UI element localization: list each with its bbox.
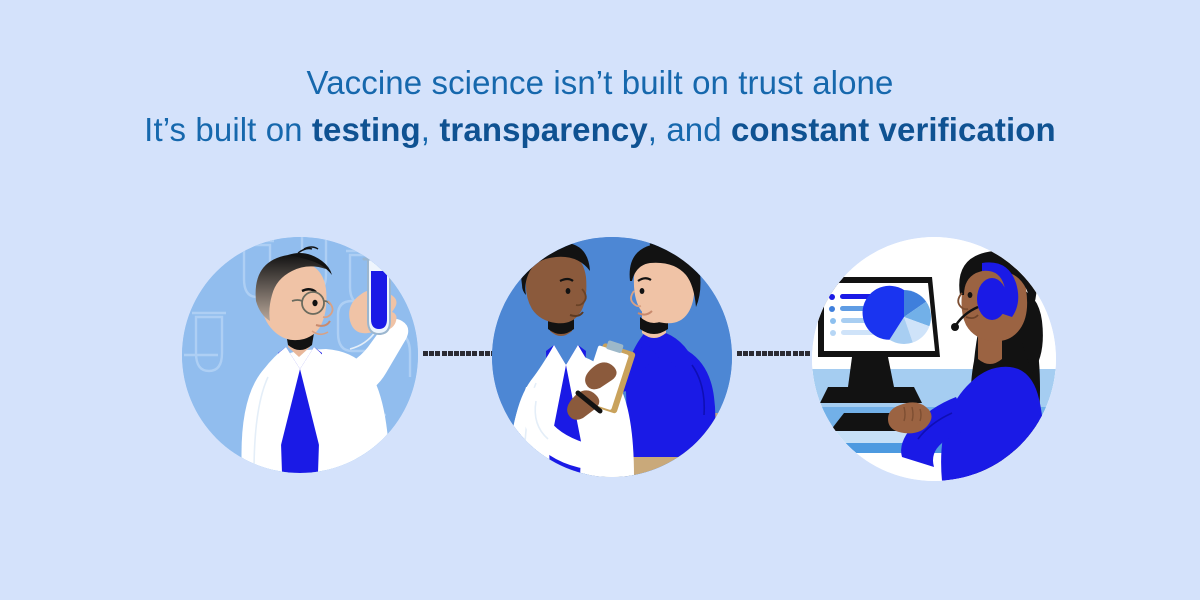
monitor-stand <box>848 357 894 387</box>
connector-dot <box>780 351 785 356</box>
connector-dot <box>485 351 490 356</box>
microphone-icon <box>951 323 959 331</box>
test-tube-icon <box>364 259 394 334</box>
connector-dot <box>805 351 810 356</box>
connector-dot <box>466 351 471 356</box>
headline-line-2-text-a: It’s built on <box>144 111 312 148</box>
connector-dot <box>429 351 434 356</box>
headline-line-2: It’s built on testing, transparency, and… <box>0 109 1200 152</box>
scene-data-monitoring <box>812 237 1056 481</box>
headline-keyword-constant-verification: constant verification <box>731 111 1056 148</box>
connector-dot <box>442 351 447 356</box>
connector-dot <box>743 351 748 356</box>
scene-clinical-trial-interview <box>492 237 732 477</box>
connector-dot <box>768 351 773 356</box>
connector-dot <box>423 351 428 356</box>
headline-keyword-testing: testing <box>312 111 421 148</box>
connector-dot <box>786 351 791 356</box>
headline-line-2-text-b: , <box>421 111 440 148</box>
headline-keyword-transparency: transparency <box>439 111 647 148</box>
infographic-canvas: Vaccine science isn’t built on trust alo… <box>0 0 1200 600</box>
headline-line-1: Vaccine science isn’t built on trust alo… <box>0 62 1200 105</box>
dotted-connector-stage-1-to-2 <box>423 351 496 356</box>
connector-dot <box>435 351 440 356</box>
connector-dot <box>799 351 804 356</box>
headline-block: Vaccine science isn’t built on trust alo… <box>0 62 1200 152</box>
dotted-connector-stage-2-to-3 <box>737 351 810 356</box>
connector-dot <box>737 351 742 356</box>
connector-dot <box>479 351 484 356</box>
connector-dot <box>756 351 761 356</box>
connector-dot <box>460 351 465 356</box>
connector-dot <box>472 351 477 356</box>
connector-dot <box>793 351 798 356</box>
connector-dot <box>762 351 767 356</box>
connector-dot <box>454 351 459 356</box>
connector-dot <box>448 351 453 356</box>
headline-line-2-text-c: , and <box>648 111 731 148</box>
monitor-base <box>820 387 922 403</box>
doctor-face <box>526 251 587 323</box>
connector-dot <box>774 351 779 356</box>
scene-laboratory-testing <box>182 237 418 473</box>
connector-dot <box>749 351 754 356</box>
